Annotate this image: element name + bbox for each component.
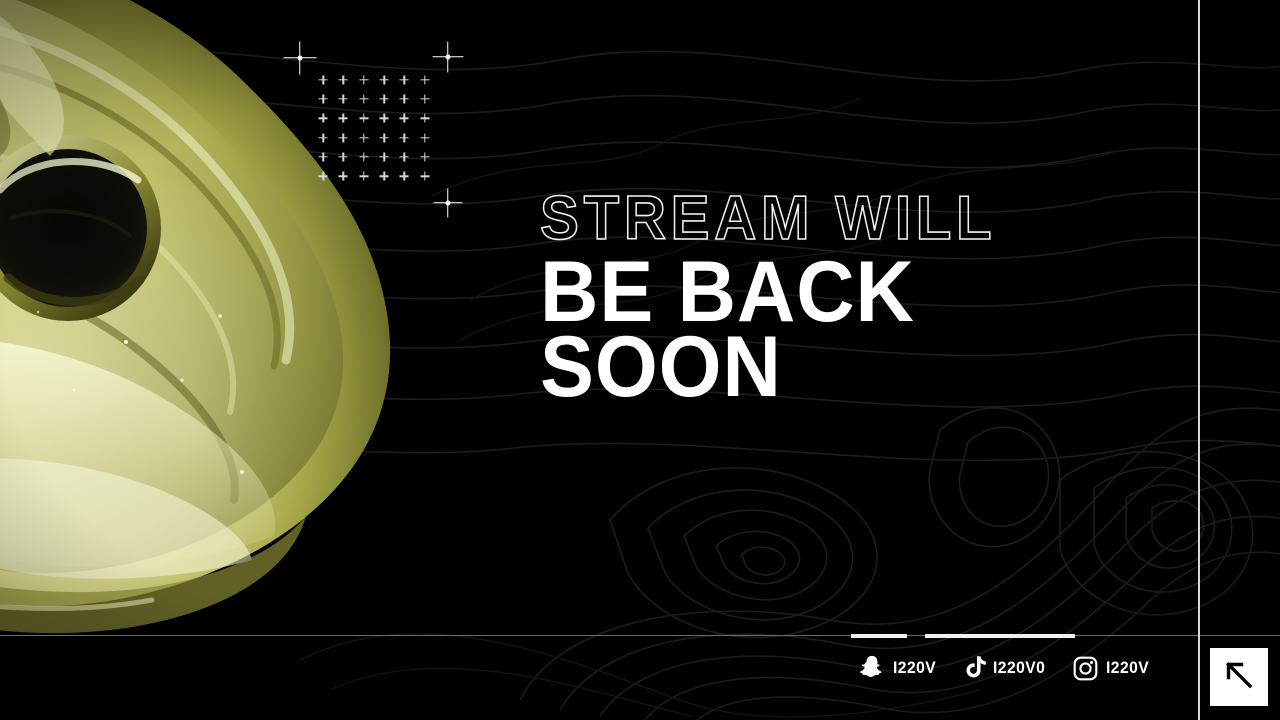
sparkle-marker-icon — [432, 41, 463, 72]
plus-dot-grid-decoration — [313, 70, 435, 186]
plus-mark — [415, 167, 435, 186]
plus-mark — [415, 128, 435, 147]
plus-mark — [394, 128, 414, 147]
plus-mark — [333, 89, 353, 108]
plus-mark — [313, 89, 333, 108]
plus-mark — [374, 167, 394, 186]
plus-mark — [374, 128, 394, 147]
plus-mark — [313, 147, 333, 166]
plus-mark — [354, 109, 374, 128]
social-handle-tiktok: I220V0 — [993, 658, 1045, 678]
corner-arrow-badge[interactable] — [1210, 648, 1268, 706]
plus-mark — [415, 70, 435, 89]
plus-mark — [394, 109, 414, 128]
plus-mark — [374, 89, 394, 108]
sparkle-marker-icon — [283, 41, 316, 74]
plus-mark — [394, 147, 414, 166]
accent-segment-short — [851, 634, 907, 638]
plus-mark — [374, 147, 394, 166]
plus-mark — [394, 167, 414, 186]
plus-mark — [354, 70, 374, 89]
plus-mark — [415, 89, 435, 108]
plus-mark — [313, 128, 333, 147]
plus-mark — [313, 70, 333, 89]
social-link-snapchat[interactable]: I220V — [858, 654, 940, 682]
plus-mark — [374, 109, 394, 128]
plus-mark — [415, 109, 435, 128]
plus-mark — [333, 109, 353, 128]
plus-mark — [313, 167, 333, 186]
instagram-camera-icon — [1072, 655, 1099, 682]
plus-mark — [354, 89, 374, 108]
plus-mark — [313, 109, 333, 128]
right-vertical-rule — [1198, 0, 1200, 720]
plus-mark — [374, 70, 394, 89]
plus-mark — [333, 147, 353, 166]
arrow-up-left-icon — [1222, 658, 1256, 697]
plus-mark — [354, 167, 374, 186]
plus-mark — [354, 147, 374, 166]
snapchat-ghost-icon — [858, 654, 886, 682]
bottom-divider-line — [0, 635, 1280, 636]
plus-mark — [394, 89, 414, 108]
headline-line-stream-will: STREAM WILL — [540, 190, 1123, 247]
accent-segment-long — [925, 634, 1075, 638]
social-link-tiktok[interactable]: I220V0 — [962, 655, 1050, 681]
plus-mark — [354, 128, 374, 147]
plus-mark — [333, 70, 353, 89]
headline-block: STREAM WILL BE BACK SOON — [540, 190, 1160, 407]
sparkle-marker-icon — [433, 188, 462, 217]
plus-mark — [333, 167, 353, 186]
plus-mark — [333, 128, 353, 147]
stream-offline-screen: STREAM WILL BE BACK SOON I220V I220V0 — [0, 0, 1280, 720]
plus-mark — [415, 147, 435, 166]
social-handle-instagram: I220V — [1106, 658, 1149, 678]
social-handle-snapchat: I220V — [893, 658, 936, 678]
tiktok-note-icon — [962, 655, 986, 681]
social-links-bar: I220V I220V0 I220V — [858, 654, 1153, 682]
social-link-instagram[interactable]: I220V — [1072, 655, 1153, 682]
headline-line-soon: SOON — [540, 328, 1123, 407]
plus-mark — [394, 70, 414, 89]
